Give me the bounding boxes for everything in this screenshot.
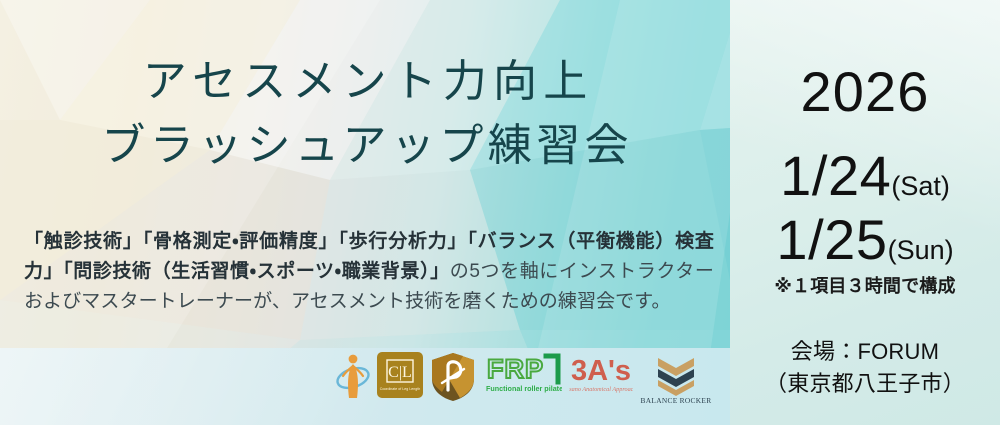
event-date-2-dow: (Sun) (888, 235, 954, 265)
venue-location: （東京都八王子市） (730, 368, 1000, 400)
balance-rocker-logo: BALANCE ROCKER (640, 352, 712, 404)
svg-text:FRP: FRP (487, 354, 544, 384)
event-date-2: 1/25(Sun) (730, 212, 1000, 268)
cll-logo: C|L Coordinate of Leg Length (377, 352, 423, 398)
svg-text:BALANCE ROCKER: BALANCE ROCKER (640, 396, 711, 404)
svg-text:3A's: 3A's (571, 355, 631, 387)
svg-text:Asano Anatomical Approach: Asano Anatomical Approach (569, 386, 633, 393)
svg-text:C|L: C|L (388, 364, 412, 381)
shield-p-logo (430, 352, 476, 402)
event-date-1: 1/24(Sat) (730, 148, 1000, 204)
svg-text:Coordinate of Leg Length: Coordinate of Leg Length (380, 387, 421, 391)
venue-name: 会場：FORUM (730, 336, 1000, 368)
threeas-logo: 3A's Asano Anatomical Approach (569, 352, 633, 396)
event-date-1-dow: (Sat) (891, 171, 950, 201)
frp-logo: FRP Functional roller pilates (484, 352, 562, 396)
schedule-note: ※１項目３時間で構成 (730, 272, 1000, 298)
venue-info: 会場：FORUM （東京都八王子市） (730, 336, 1000, 400)
event-date-1-value: 1/24 (780, 144, 891, 207)
figure-swirl-logo (336, 352, 370, 404)
svg-text:Functional roller pilates: Functional roller pilates (486, 384, 562, 393)
lead-paragraph: 「触診技術」「骨格測定・評価精度」「歩行分析力」「バランス（平衡機能）検査力」「… (24, 227, 714, 317)
event-banner: アセスメント力向上 ブラッシュアップ練習会 「触診技術」「骨格測定・評価精度」「… (0, 0, 1000, 425)
event-date-2-value: 1/25 (776, 208, 887, 271)
partner-logo-row: C|L Coordinate of Leg Length FRP Functio… (336, 352, 712, 410)
event-year: 2026 (730, 64, 1000, 120)
